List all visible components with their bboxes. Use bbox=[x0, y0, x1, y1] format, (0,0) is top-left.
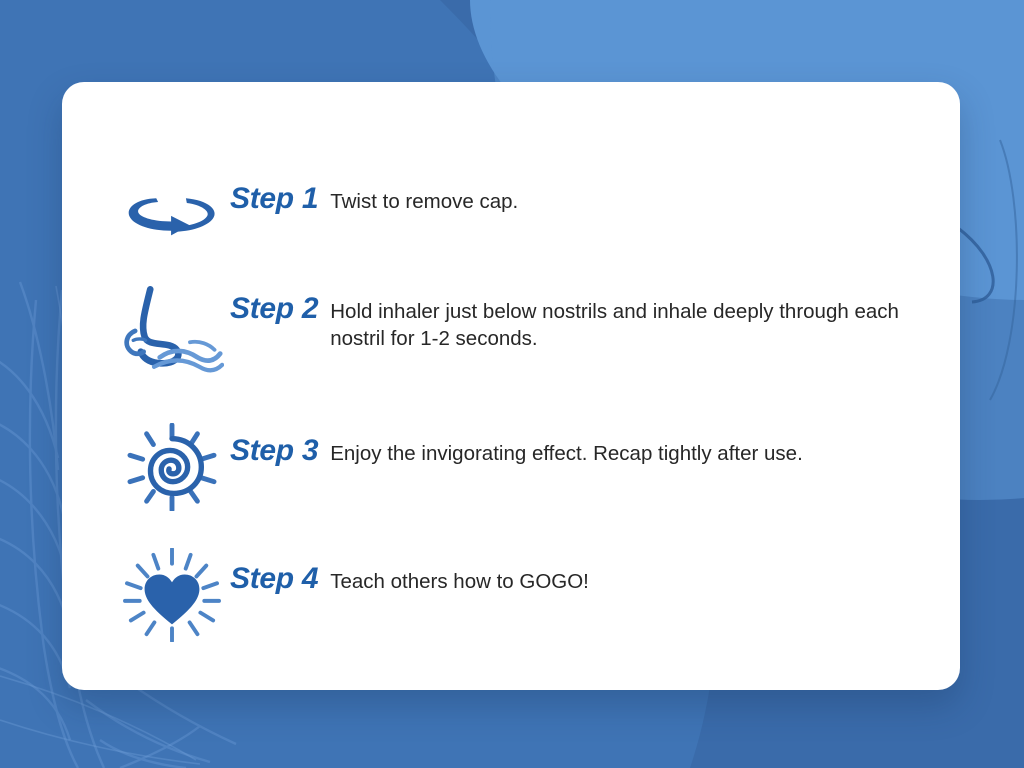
radiating-heart-icon bbox=[114, 540, 230, 650]
step-1-label: Step 1 bbox=[230, 182, 318, 216]
step-2-label: Step 2 bbox=[230, 292, 318, 326]
step-3-label: Step 3 bbox=[230, 434, 318, 468]
step-2-text: Step 2 Hold inhaler just below nostrils … bbox=[230, 274, 905, 353]
step-3-description: Enjoy the invigorating effect. Recap tig… bbox=[330, 440, 803, 467]
instruction-card: Step 1 Twist to remove cap. bbox=[62, 82, 960, 690]
step-4-label: Step 4 bbox=[230, 562, 318, 596]
twist-rotation-arrow-icon bbox=[114, 160, 230, 270]
step-4-description: Teach others how to GOGO! bbox=[330, 568, 589, 595]
step-row-1: Step 1 Twist to remove cap. bbox=[114, 160, 944, 270]
step-row-4: Step 4 Teach others how to GOGO! bbox=[114, 540, 944, 650]
nose-inhale-icon bbox=[114, 274, 230, 384]
step-1-text: Step 1 Twist to remove cap. bbox=[230, 160, 518, 216]
spiral-sun-icon bbox=[114, 412, 230, 522]
step-1-description: Twist to remove cap. bbox=[330, 188, 518, 215]
step-2-description: Hold inhaler just below nostrils and inh… bbox=[330, 298, 905, 353]
step-row-3: Step 3 Enjoy the invigorating effect. Re… bbox=[114, 412, 944, 522]
steps-list: Step 1 Twist to remove cap. bbox=[62, 82, 960, 690]
step-4-text: Step 4 Teach others how to GOGO! bbox=[230, 540, 589, 596]
step-row-2: Step 2 Hold inhaler just below nostrils … bbox=[114, 274, 944, 384]
step-3-text: Step 3 Enjoy the invigorating effect. Re… bbox=[230, 412, 803, 468]
